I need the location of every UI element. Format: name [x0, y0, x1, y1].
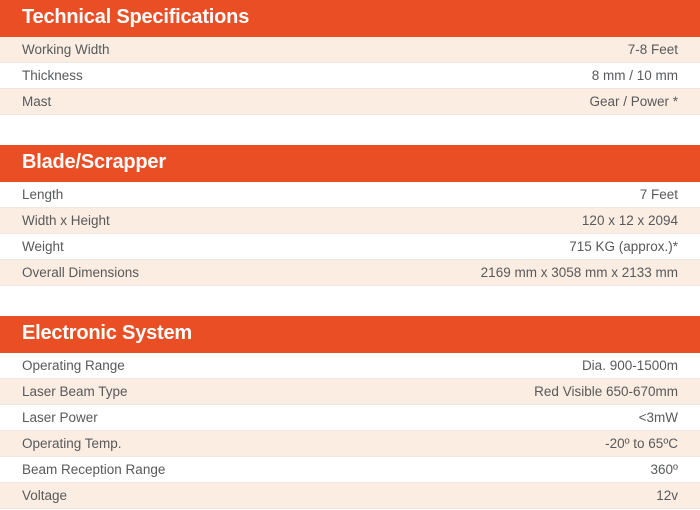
spec-value: 7 Feet	[640, 187, 678, 202]
table-row: Voltage 12v	[0, 483, 700, 509]
spec-section-blade-scrapper: Blade/Scrapper Length 7 Feet Width x Hei…	[0, 145, 700, 286]
spec-value: 120 x 12 x 2094	[582, 213, 678, 228]
spec-value: 12v	[656, 488, 678, 503]
spec-label: Overall Dimensions	[22, 265, 139, 280]
table-row: Working Width 7-8 Feet	[0, 37, 700, 63]
spec-label: Operating Temp.	[22, 436, 122, 451]
table-row: Laser Beam Type Red Visible 650-670mm	[0, 379, 700, 405]
spec-value: Dia. 900-1500m	[582, 358, 678, 373]
spec-label: Beam Reception Range	[22, 462, 165, 477]
spec-value: 8 mm / 10 mm	[592, 68, 678, 83]
spec-label: Weight	[22, 239, 64, 254]
spec-label: Laser Power	[22, 410, 98, 425]
table-row: Beam Reception Range 360º	[0, 457, 700, 483]
spec-label: Length	[22, 187, 63, 202]
table-row: Operating Temp. -20º to 65ºC	[0, 431, 700, 457]
section-spacer	[0, 115, 700, 145]
spec-label: Laser Beam Type	[22, 384, 128, 399]
table-row: Thickness 8 mm / 10 mm	[0, 63, 700, 89]
section-header-electronic-system: Electronic System	[0, 316, 700, 353]
spec-label: Working Width	[22, 42, 110, 57]
table-row: Operating Range Dia. 900-1500m	[0, 353, 700, 379]
spec-value: <3mW	[639, 410, 678, 425]
spec-section-electronic-system: Electronic System Operating Range Dia. 9…	[0, 316, 700, 509]
table-row: Width x Height 120 x 12 x 2094	[0, 208, 700, 234]
specification-sheet: Technical Specifications Working Width 7…	[0, 0, 700, 510]
spec-label: Width x Height	[22, 213, 110, 228]
spec-value: 715 KG (approx.)*	[569, 239, 678, 254]
spec-rows-electronic-system: Operating Range Dia. 900-1500m Laser Bea…	[0, 353, 700, 509]
spec-label: Thickness	[22, 68, 83, 83]
spec-value: 2169 mm x 3058 mm x 2133 mm	[481, 265, 678, 280]
spec-value: Red Visible 650-670mm	[534, 384, 678, 399]
section-header-technical-specifications: Technical Specifications	[0, 0, 700, 37]
spec-rows-technical-specifications: Working Width 7-8 Feet Thickness 8 mm / …	[0, 37, 700, 115]
spec-label: Operating Range	[22, 358, 125, 373]
spec-label: Mast	[22, 94, 51, 109]
spec-label: Voltage	[22, 488, 67, 503]
spec-value: 7-8 Feet	[628, 42, 678, 57]
section-header-blade-scrapper: Blade/Scrapper	[0, 145, 700, 182]
table-row: Overall Dimensions 2169 mm x 3058 mm x 2…	[0, 260, 700, 286]
spec-value: -20º to 65ºC	[605, 436, 678, 451]
spec-section-technical-specifications: Technical Specifications Working Width 7…	[0, 0, 700, 115]
section-spacer	[0, 286, 700, 316]
table-row: Weight 715 KG (approx.)*	[0, 234, 700, 260]
spec-value: Gear / Power *	[589, 94, 678, 109]
spec-rows-blade-scrapper: Length 7 Feet Width x Height 120 x 12 x …	[0, 182, 700, 286]
table-row: Mast Gear / Power *	[0, 89, 700, 115]
spec-value: 360º	[651, 462, 678, 477]
table-row: Length 7 Feet	[0, 182, 700, 208]
table-row: Laser Power <3mW	[0, 405, 700, 431]
